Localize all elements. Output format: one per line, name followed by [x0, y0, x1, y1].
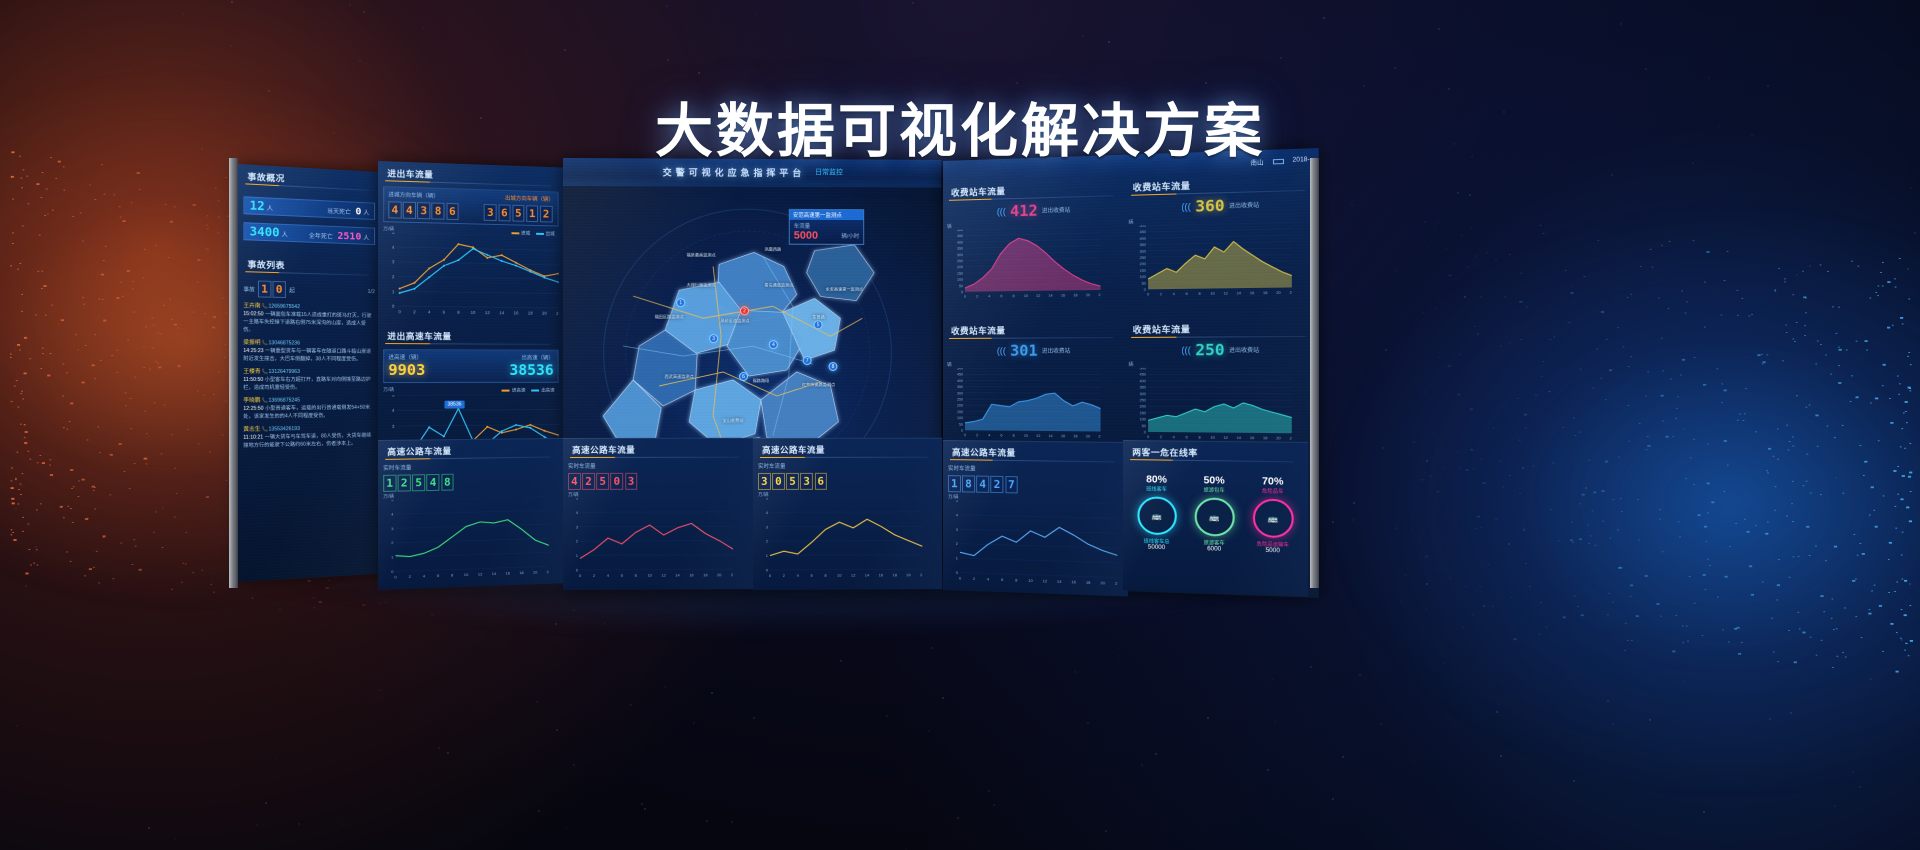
map-pin-2[interactable]: 2 — [740, 306, 749, 315]
toll-value-0: 412 — [1010, 201, 1038, 220]
highway-chart-0: 0123450246810121416182022 — [383, 496, 549, 581]
svg-text:16: 16 — [1061, 293, 1065, 297]
svg-text:14: 14 — [1236, 436, 1240, 440]
svg-text:5: 5 — [392, 232, 395, 235]
toll-panel-3: 收费站车流量 ((( 250 进出收费站 辆 50045040035030025… — [1128, 320, 1314, 460]
svg-text:12: 12 — [851, 573, 856, 578]
accident-name: 王楼青 — [243, 369, 260, 375]
svg-text:12: 12 — [1036, 434, 1040, 438]
online-pct-2: 70% — [1252, 476, 1293, 488]
accident-text: 一辆面包车准载15人造成重打的斑马灯灭，行驶一主路车失控撞下道路右侧75米深沟的… — [243, 311, 371, 333]
svg-text:100: 100 — [957, 278, 963, 282]
svg-text:0: 0 — [394, 574, 397, 579]
svg-text:6: 6 — [443, 310, 446, 315]
highway-label-3: 实时车流量 — [948, 464, 1123, 475]
svg-text:18: 18 — [893, 572, 898, 577]
accident-count-digit-1: 0 — [273, 281, 286, 298]
digit-2: 5 — [596, 473, 609, 490]
svg-text:2: 2 — [956, 541, 958, 546]
svg-text:22: 22 — [1098, 434, 1100, 438]
svg-text:22: 22 — [1289, 291, 1291, 295]
in-direction-digits: 44386 — [388, 200, 460, 220]
map-pin-5[interactable]: 5 — [814, 320, 823, 329]
list-item[interactable]: 王楼青 📞13126479963 11:50:50 小型客车右方超打开，直路车对… — [243, 368, 375, 392]
page-title-text: 大数据可视化解决方案 — [655, 84, 1265, 168]
svg-text:4: 4 — [391, 511, 394, 516]
svg-text:4: 4 — [576, 510, 579, 515]
today-death-subunit: 人 — [363, 211, 369, 217]
accident-phone: 📞13046875236 — [262, 340, 300, 346]
svg-text:8: 8 — [1198, 292, 1200, 296]
online-sub-1: 旅游包车 — [1194, 486, 1234, 494]
svg-text:12: 12 — [478, 571, 482, 576]
svg-text:14: 14 — [492, 571, 497, 576]
svg-text:3: 3 — [392, 259, 395, 264]
accident-text: 小型客车右方超打开，直路车对向侧撞至路边护栏，造成司机重轻受伤。 — [243, 377, 370, 391]
accident-time: 11:10:21 — [243, 435, 263, 441]
svg-text:22: 22 — [547, 569, 549, 574]
svg-text:1: 1 — [392, 289, 395, 294]
hs-in-label: 进高速（辆） — [388, 353, 422, 361]
svg-text:4: 4 — [988, 294, 990, 298]
svg-text:14: 14 — [499, 310, 504, 315]
svg-text:20: 20 — [1276, 291, 1280, 295]
svg-text:250: 250 — [957, 398, 963, 402]
svg-text:18: 18 — [1073, 434, 1077, 438]
highway-label-1: 实时车流量 — [568, 462, 748, 470]
accident-time: 11:50:50 — [243, 377, 263, 383]
map-tooltip-title: 安范高速第一监测点 — [790, 210, 863, 220]
list-item[interactable]: 梁振明 📞13046875236 14:25:23 一辆重型货车与一辆客车在隧道… — [243, 339, 375, 363]
svg-text:450: 450 — [1139, 230, 1145, 234]
toll-panel-1: 收费站车流量 ((( 360 进出收费站 辆 50045040035030025… — [1128, 174, 1314, 316]
svg-text:6: 6 — [1001, 577, 1004, 582]
svg-text:4: 4 — [1172, 292, 1174, 296]
svg-text:3: 3 — [956, 527, 959, 532]
svg-text:3: 3 — [392, 424, 395, 429]
svg-text:1: 1 — [391, 555, 393, 560]
svg-text:10: 10 — [647, 573, 652, 578]
map-tooltip-label: 车流量 — [794, 222, 859, 230]
digit-2: 5 — [412, 474, 425, 491]
online-item-2[interactable]: 70% 危险品车 🚌 危险品运输车 5000 — [1252, 476, 1293, 555]
svg-text:14: 14 — [1049, 434, 1053, 438]
map-pin-8[interactable]: 8 — [829, 362, 838, 371]
accident-list-title: 事故列表 — [243, 256, 375, 276]
svg-text:500: 500 — [1139, 368, 1145, 371]
svg-text:1: 1 — [956, 555, 958, 560]
digit-1: 2 — [582, 473, 595, 490]
svg-text:250: 250 — [1139, 398, 1145, 402]
svg-text:0: 0 — [579, 573, 582, 578]
accident-name: 梁振明 — [243, 340, 260, 346]
svg-text:300: 300 — [1139, 249, 1145, 253]
svg-text:1: 1 — [766, 553, 769, 558]
svg-text:4: 4 — [423, 573, 426, 578]
svg-text:450: 450 — [1139, 373, 1145, 377]
svg-text:12: 12 — [1036, 294, 1040, 298]
map-pin-1[interactable]: 1 — [676, 298, 685, 307]
digit-3: 2 — [991, 476, 1004, 493]
map-label-4: 永安高速第一监测点 — [825, 287, 865, 293]
svg-text:200: 200 — [957, 265, 963, 269]
svg-text:450: 450 — [957, 373, 963, 377]
svg-text:20: 20 — [717, 572, 722, 577]
digit-3: 0 — [611, 473, 624, 490]
svg-text:300: 300 — [957, 391, 963, 395]
out-direction-digits: 36512 — [484, 203, 554, 222]
svg-text:16: 16 — [1061, 434, 1065, 438]
svg-text:350: 350 — [957, 247, 963, 251]
svg-text:400: 400 — [957, 379, 963, 383]
list-item[interactable]: 黄志生 📞13553426193 11:10:21 一辆大货车与车驾车道，80人… — [243, 424, 375, 450]
highway-digits-3: 18427 — [948, 474, 1123, 495]
accident-name: 黄志生 — [243, 427, 260, 433]
digit-1: 8 — [962, 475, 975, 492]
svg-text:12: 12 — [1223, 436, 1227, 440]
svg-text:20: 20 — [906, 572, 911, 577]
svg-text:150: 150 — [1139, 269, 1145, 273]
accident-name-row: 王楼青 📞13126479963 — [243, 368, 375, 376]
today-death-unit: 人 — [267, 206, 273, 212]
map-pin-7[interactable]: 7 — [803, 356, 812, 365]
svg-text:2: 2 — [973, 576, 975, 581]
accident-overview-title: 事故概况 — [243, 168, 375, 191]
accident-count-digit-0: 1 — [258, 281, 271, 298]
accident-list-pager[interactable]: 1/2 — [368, 289, 375, 295]
svg-text:6: 6 — [1000, 434, 1002, 438]
toll-kpi-2: ((( 301 进出收费站 — [947, 341, 1122, 360]
toll-chart-0: 5004504003503002502001501005000246810121… — [947, 226, 1101, 301]
list-item[interactable]: 王卉南 📞12659675542 15:02:50 一辆面包车准载15人造成重打… — [243, 302, 375, 335]
svg-text:18: 18 — [1262, 291, 1266, 295]
svg-text:0: 0 — [769, 573, 772, 578]
toll-chart-3: 5004504003503002502001501005000246810121… — [1128, 368, 1291, 443]
highway-title-1: 高速公路车流量 — [568, 442, 748, 458]
digit-1: 0 — [772, 473, 785, 490]
map-label-1: 凤凰西路 — [753, 247, 793, 253]
svg-text:8: 8 — [457, 310, 460, 315]
toll-grid: 收费站车流量 ((( 412 进出收费站 辆 50045040035030025… — [947, 174, 1314, 460]
svg-text:22: 22 — [1098, 293, 1100, 297]
digit-4: 6 — [814, 473, 827, 490]
svg-text:3: 3 — [576, 524, 579, 529]
svg-text:250: 250 — [957, 259, 963, 263]
digit-3: 4 — [427, 474, 440, 491]
svg-text:6: 6 — [1185, 435, 1187, 439]
screen-highway-2: 高速公路车流量 实时车流量 42503 万/辆 0123450246810121… — [563, 438, 753, 590]
svg-text:16: 16 — [506, 570, 511, 575]
svg-text:16: 16 — [1249, 291, 1253, 295]
online-count-1: 6000 — [1194, 546, 1234, 553]
map-pin-4[interactable]: 4 — [769, 340, 778, 349]
svg-text:0: 0 — [959, 575, 962, 580]
svg-text:2: 2 — [409, 574, 411, 579]
highway-title-3: 高速公路车流量 — [948, 444, 1123, 462]
svg-text:14: 14 — [675, 572, 680, 577]
svg-text:350: 350 — [957, 385, 963, 389]
map-pin-3[interactable]: 3 — [709, 334, 718, 343]
digit-2: 5 — [512, 205, 524, 222]
svg-text:10: 10 — [1024, 434, 1028, 438]
truck-icon: 🚌 — [1252, 498, 1293, 538]
hs-legend: 进高速 出高速 — [502, 388, 555, 394]
digit-4: 8 — [441, 474, 454, 491]
toll-kpi-3: ((( 250 进出收费站 — [1128, 340, 1314, 359]
svg-text:4: 4 — [428, 309, 431, 314]
svg-text:2: 2 — [392, 274, 395, 279]
svg-text:200: 200 — [1139, 262, 1145, 266]
accident-text: 小型普通客车，运载的出行普通载侧发54+50米处，该家发生的的4人不同程度受伤。 — [243, 405, 370, 420]
highway-chart-1: 0123450246810121416182022 — [568, 498, 733, 580]
accident-phone: 📞13696875245 — [262, 398, 300, 404]
map-label-0: 福泉最高监测点 — [681, 252, 721, 258]
screen-left-accidents: 事故概况 12人 当天死亡 0人 3400人 全年死亡 2510人 事故列表 事… — [238, 164, 380, 582]
svg-text:4: 4 — [607, 573, 610, 578]
svg-text:18: 18 — [528, 311, 533, 316]
svg-text:150: 150 — [1139, 411, 1145, 415]
svg-text:18: 18 — [519, 570, 524, 575]
digit-4: 3 — [625, 473, 638, 490]
digit-0: 1 — [383, 475, 396, 492]
svg-text:0: 0 — [398, 309, 401, 314]
today-death-sub: 0 — [355, 207, 361, 218]
accident-body: 11:50:50 小型客车右方超打开，直路车对向侧撞至路边护栏，造成司机重轻受伤… — [243, 376, 375, 392]
svg-text:50: 50 — [959, 422, 963, 426]
toll-label-3: 进出收费站 — [1229, 346, 1259, 354]
digit-0: 4 — [568, 473, 581, 490]
online-count-0: 50000 — [1137, 544, 1176, 551]
toll-label-2: 进出收费站 — [1042, 346, 1070, 354]
inout-counter-card: 进城方向车辆（辆） 出城方向车辆（辆） 44386 36512 — [383, 186, 558, 226]
right-blue-glow — [1320, 200, 1920, 800]
svg-text:400: 400 — [1139, 237, 1145, 241]
svg-text:22: 22 — [920, 572, 922, 577]
digit-4: 7 — [1005, 476, 1018, 493]
toll-panel-2: 收费站车流量 ((( 301 进出收费站 辆 50045040035030025… — [947, 322, 1122, 458]
digit-3: 8 — [432, 203, 445, 220]
svg-text:200: 200 — [957, 404, 963, 408]
svg-text:4: 4 — [392, 245, 395, 250]
svg-text:4: 4 — [956, 512, 959, 517]
svg-text:10: 10 — [1024, 294, 1028, 298]
highway-title-2: 高速公路车流量 — [758, 442, 937, 458]
svg-text:2: 2 — [783, 573, 786, 578]
accident-time: 12:25:50 — [243, 406, 263, 412]
svg-text:16: 16 — [514, 310, 519, 315]
svg-text:0: 0 — [1146, 292, 1148, 296]
highway-digits-0: 12548 — [383, 471, 558, 492]
map-label-5: 福田区路监测点 — [649, 314, 689, 320]
svg-text:4: 4 — [987, 576, 990, 581]
accident-name: 李晓鹏 — [243, 398, 260, 404]
svg-text:14: 14 — [1057, 579, 1062, 584]
accident-count-unit: 起 — [289, 286, 295, 294]
accident-phone: 📞12659675542 — [262, 303, 300, 310]
wall-bezel-left — [229, 158, 238, 588]
highway-label-2: 实时车流量 — [758, 462, 937, 470]
toll-title-3: 收费站车流量 — [1128, 320, 1314, 338]
digit-0: 3 — [758, 473, 771, 490]
accident-body: 12:25:50 小型普通客车，运载的出行普通载侧发54+50米处，该家发生的的… — [243, 404, 375, 421]
svg-text:400: 400 — [957, 240, 963, 244]
toll-label-0: 进出收费站 — [1042, 206, 1070, 215]
legend-hs-out: 出高速 — [541, 388, 554, 393]
digit-4: 2 — [540, 206, 552, 223]
svg-text:300: 300 — [957, 253, 963, 257]
svg-text:8: 8 — [635, 573, 638, 578]
svg-text:3: 3 — [766, 524, 769, 529]
svg-text:4: 4 — [988, 433, 990, 437]
svg-text:2: 2 — [576, 539, 579, 544]
svg-text:16: 16 — [1071, 579, 1076, 584]
signal-icon: ((( — [997, 206, 1006, 216]
legend-hs-in: 进高速 — [512, 388, 526, 393]
accident-time: 15:02:50 — [243, 311, 263, 317]
svg-text:0: 0 — [576, 567, 579, 572]
map-tooltip: 安范高速第一监测点 车流量 5000 辆/小时 — [789, 209, 864, 245]
svg-text:2: 2 — [976, 295, 978, 299]
out-direction-label: 出城方向车辆（辆） — [505, 194, 554, 203]
accident-body: 15:02:50 一辆面包车准载15人造成重打的斑马灯灭，行驶一主路车失控撞下道… — [243, 310, 375, 335]
svg-text:6: 6 — [621, 573, 624, 578]
svg-text:0: 0 — [956, 570, 959, 575]
svg-text:18: 18 — [1086, 580, 1092, 585]
svg-text:2: 2 — [766, 539, 769, 544]
year-death-label: 全年死亡 — [309, 234, 333, 241]
svg-text:100: 100 — [1139, 275, 1145, 279]
svg-text:20: 20 — [1086, 434, 1090, 438]
today-death-value: 12 — [250, 199, 265, 214]
svg-text:10: 10 — [837, 573, 842, 578]
svg-text:12: 12 — [1223, 291, 1227, 295]
svg-text:22: 22 — [1289, 436, 1291, 440]
accident-list[interactable]: 王卉南 📞12659675542 15:02:50 一辆面包车准载15人造成重打… — [243, 302, 375, 450]
video-wall: 事故概况 12人 当天死亡 0人 3400人 全年死亡 2510人 事故列表 事… — [238, 158, 1310, 588]
hs-out-value: 38536 — [509, 361, 553, 379]
svg-text:12: 12 — [485, 310, 490, 315]
accident-text: 一辆重型货车与一辆客车在隧道口路斗临山崖道附近发生撞击，大巴车侧翻掉，38人不同… — [243, 348, 371, 362]
accident-count-row: 事故 1 0 起 1/2 — [243, 280, 375, 300]
toll-value-2: 301 — [1010, 342, 1038, 360]
svg-text:18: 18 — [703, 572, 708, 577]
svg-text:150: 150 — [957, 410, 963, 414]
signal-icon: ((( — [1181, 345, 1191, 355]
svg-text:22: 22 — [1115, 581, 1117, 586]
accident-body: 14:25:23 一辆重型货车与一辆客车在隧道口路斗临山崖道附近发生撞击，大巴车… — [243, 347, 375, 363]
list-item[interactable]: 李晓鹏 📞13696875245 12:25:50 小型普通客车，运载的出行普通… — [243, 396, 375, 421]
map-label-9: 福路路段 — [741, 378, 781, 383]
svg-text:3: 3 — [391, 526, 394, 531]
svg-text:50: 50 — [959, 284, 963, 288]
digit-0: 4 — [388, 201, 401, 218]
map-label-6: 凤桥区道监测点 — [715, 318, 755, 324]
legend-in: 进城 — [521, 230, 530, 235]
coach-icon: 🚌 — [1194, 497, 1234, 536]
svg-text:2: 2 — [391, 540, 393, 545]
screen-highway-4: 高速公路车流量 实时车流量 18427 万/辆 0123450246810121… — [943, 440, 1128, 596]
digit-0: 3 — [484, 204, 497, 221]
svg-text:12: 12 — [1043, 578, 1048, 583]
svg-text:20: 20 — [1086, 293, 1090, 297]
svg-text:2: 2 — [1159, 292, 1161, 296]
svg-text:1: 1 — [576, 553, 579, 558]
stat-row-year: 3400人 全年死亡 2510人 — [243, 222, 375, 245]
svg-text:0: 0 — [1143, 288, 1145, 292]
svg-text:14: 14 — [1049, 294, 1053, 298]
highway-title-0: 高速公路车流量 — [383, 442, 558, 460]
svg-text:0: 0 — [1143, 430, 1145, 434]
inout-legend: 进城 出城 — [511, 230, 555, 237]
online-count-2: 5000 — [1252, 547, 1293, 554]
toll-value-3: 250 — [1195, 341, 1224, 360]
svg-text:4: 4 — [392, 408, 395, 413]
screen-online-rate: 两客一危在线率 80% 班线客车 🚌 班线客车总 50000 50% 旅游包车 … — [1123, 440, 1308, 596]
svg-text:350: 350 — [1139, 243, 1145, 247]
svg-text:2: 2 — [413, 309, 416, 314]
svg-text:8: 8 — [1013, 294, 1015, 298]
online-rate-title: 两客一危在线率 — [1128, 444, 1302, 462]
header-mode[interactable]: 日常监控 — [815, 167, 843, 177]
digit-1: 6 — [498, 204, 511, 221]
online-item-0[interactable]: 80% 班线客车 🚌 班线客车总 50000 — [1137, 474, 1176, 551]
svg-text:2: 2 — [593, 573, 596, 578]
svg-text:0: 0 — [961, 429, 963, 433]
accident-time: 14:25:23 — [243, 348, 263, 354]
hs-out-label: 出高速（辆） — [521, 353, 553, 361]
highway-inout-card: 进高速（辆） 出高速（辆） 9903 38536 — [383, 349, 558, 383]
online-item-1[interactable]: 50% 旅游包车 🚌 旅游客车 6000 — [1194, 475, 1234, 553]
svg-text:5: 5 — [576, 498, 579, 501]
legend-out: 出城 — [546, 231, 555, 236]
svg-text:8: 8 — [451, 572, 454, 577]
svg-text:50: 50 — [1141, 424, 1145, 428]
map-label-10: 红井快速路监测点 — [799, 382, 839, 387]
svg-text:4: 4 — [1172, 435, 1174, 439]
svg-text:100: 100 — [957, 416, 963, 420]
svg-text:16: 16 — [1249, 436, 1253, 440]
svg-text:0: 0 — [392, 304, 395, 309]
year-death-unit: 人 — [282, 233, 288, 239]
digit-2: 5 — [786, 473, 799, 490]
page-title: 大数据可视化解决方案 — [0, 84, 1920, 168]
digit-2: 3 — [417, 202, 430, 219]
accident-text: 一辆大货车与车驾车道，80人受伤，大货车继续撞地方行的能驶下公路约60米左右，伤… — [243, 433, 371, 449]
svg-text:10: 10 — [471, 310, 477, 315]
svg-text:22: 22 — [556, 311, 558, 316]
screen-highway-3: 高速公路车流量 实时车流量 30536 万/辆 0123450246810121… — [753, 438, 942, 590]
year-death-value: 3400 — [250, 224, 280, 239]
svg-text:2: 2 — [1159, 435, 1161, 439]
stat-row-today: 12人 当天死亡 0人 — [243, 196, 375, 220]
digit-2: 4 — [976, 476, 989, 493]
wall-bezel-right — [1310, 158, 1319, 588]
svg-text:10: 10 — [464, 572, 469, 577]
svg-text:8: 8 — [824, 573, 827, 578]
digit-3: 1 — [526, 205, 538, 222]
svg-text:18: 18 — [1262, 436, 1266, 440]
svg-text:5: 5 — [956, 500, 959, 503]
toll-chart-2: 5004504003503002502001501005000246810121… — [947, 368, 1101, 441]
svg-text:4: 4 — [797, 573, 800, 578]
inout-flow-title: 进出车流量 — [383, 165, 558, 187]
svg-text:8: 8 — [1198, 435, 1200, 439]
hs-in-value: 9903 — [388, 361, 425, 379]
svg-text:10: 10 — [1210, 292, 1214, 296]
highway-digits-1: 42503 — [568, 472, 748, 490]
online-items: 80% 班线客车 🚌 班线客车总 50000 50% 旅游包车 🚌 旅游客车 6… — [1128, 474, 1302, 555]
map-label-3: 青岛通道监测点 — [759, 282, 799, 288]
